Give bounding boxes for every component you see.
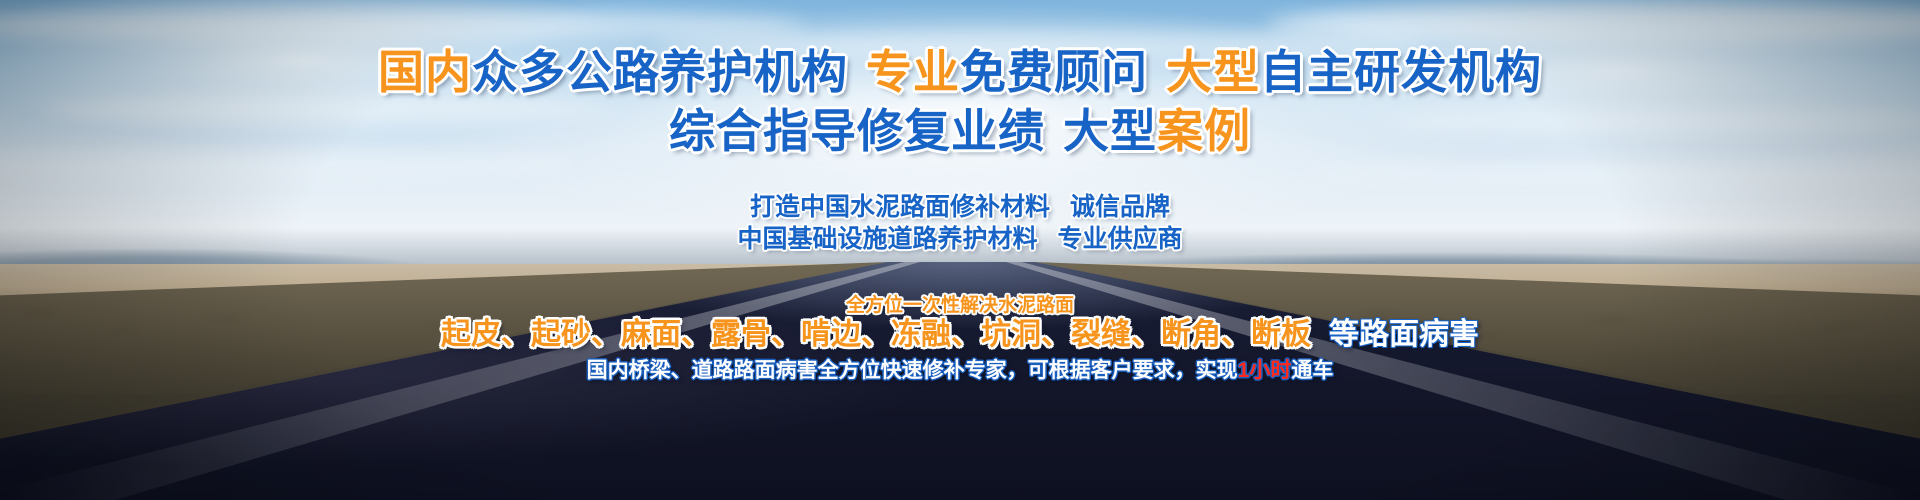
headline1-seg-5: 大型 xyxy=(1166,46,1260,98)
headline2-seg-2: 大型 xyxy=(1063,105,1157,157)
headline-line-2: 综合指导修复业绩大型案例 xyxy=(0,103,1920,159)
subheadline2-seg-2: 专业供应商 xyxy=(1058,225,1183,253)
headline1-seg-3: 专业 xyxy=(866,46,960,98)
subheadline-line-1: 打造中国水泥路面修补材料诚信品牌 xyxy=(0,192,1920,222)
tagline-highlight: 1小时 xyxy=(1238,359,1292,382)
subheadline1-seg-2: 诚信品牌 xyxy=(1070,193,1170,221)
tagline-seg-2: 通车 xyxy=(1291,359,1333,382)
subheadline-line-2: 中国基础设施道路养护材料专业供应商 xyxy=(0,224,1920,254)
bottom-tagline: 国内桥梁、道路路面病害全方位快速修补专家，可根据客户要求，实现1小时通车 xyxy=(0,358,1920,384)
headline2-seg-1: 综合指导修复业绩 xyxy=(669,105,1045,157)
bottom-eyebrow-text: 全方位一次性解决水泥路面 xyxy=(0,294,1920,318)
banner-text-layer: 国内众多公路养护机构专业免费顾问大型自主研发机构 综合指导修复业绩大型案例 打造… xyxy=(0,0,1920,500)
promo-banner: 国内众多公路养护机构专业免费顾问大型自主研发机构 综合指导修复业绩大型案例 打造… xyxy=(0,0,1920,500)
headline1-seg-1: 国内 xyxy=(378,46,472,98)
tagline-seg-1: 国内桥梁、道路路面病害全方位快速修补专家，可根据客户要求，实现 xyxy=(587,359,1238,382)
headline2-seg-3: 案例 xyxy=(1157,105,1251,157)
headline1-seg-4: 免费顾问 xyxy=(960,46,1148,98)
subheadline1-seg-1: 打造中国水泥路面修补材料 xyxy=(750,193,1050,221)
headline1-seg-2: 众多公路养护机构 xyxy=(472,46,848,98)
subheadline2-seg-1: 中国基础设施道路养护材料 xyxy=(737,225,1037,253)
headline1-seg-6: 自主研发机构 xyxy=(1260,46,1542,98)
bottom-defect-list: 起皮、起砂、麻面、露骨、啃边、冻融、坑洞、裂缝、断角、断板等路面病害 xyxy=(0,316,1920,354)
defect-list-suffix: 等路面病害 xyxy=(1329,318,1479,351)
headline-line-1: 国内众多公路养护机构专业免费顾问大型自主研发机构 xyxy=(0,44,1920,100)
defect-list-items: 起皮、起砂、麻面、露骨、啃边、冻融、坑洞、裂缝、断角、断板 xyxy=(441,318,1311,351)
